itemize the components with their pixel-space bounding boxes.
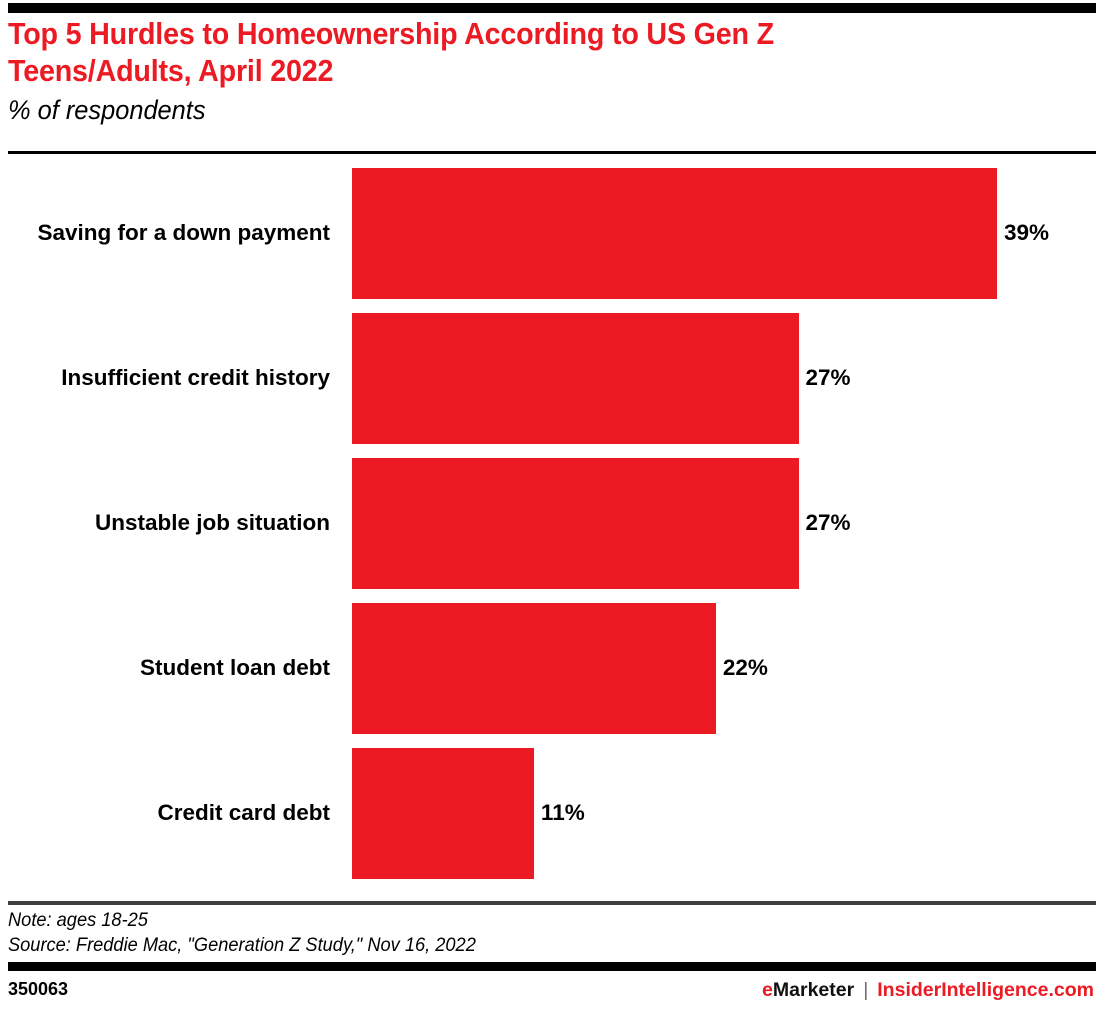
bar-value-label: 11% <box>541 802 585 825</box>
bar-value-label: 39% <box>1004 222 1049 245</box>
footer-divider <box>8 962 1096 971</box>
bar-row: Credit card debt11% <box>8 748 1092 879</box>
bar-track: 27% <box>352 458 1092 589</box>
bar-track: 11% <box>352 748 1092 879</box>
brand-logo[interactable]: eMarketer | InsiderIntelligence.com <box>762 979 1094 1002</box>
source-line: Source: Freddie Mac, "Generation Z Study… <box>8 933 1037 958</box>
chart-page: Top 5 Hurdles to Homeownership According… <box>0 0 1100 1014</box>
bar-track: 22% <box>352 603 1092 734</box>
page-title: Top 5 Hurdles to Homeownership According… <box>8 16 1016 90</box>
brand-separator: | <box>863 979 868 1002</box>
bar-category-label: Student loan debt <box>0 657 330 680</box>
bar-row: Student loan debt22% <box>8 603 1092 734</box>
bar-category-label: Unstable job situation <box>0 512 330 535</box>
chart-header: Top 5 Hurdles to Homeownership According… <box>8 16 1080 126</box>
bar-row: Saving for a down payment39% <box>8 168 1092 299</box>
top-rule <box>8 3 1096 13</box>
brand-website: InsiderIntelligence.com <box>877 979 1094 1002</box>
bar[interactable] <box>352 748 534 879</box>
brand-emarketer-e: e <box>762 979 773 1002</box>
header-divider <box>8 151 1096 154</box>
chart-subtitle: % of respondents <box>8 95 1016 126</box>
bar-row: Unstable job situation27% <box>8 458 1092 589</box>
bar-category-label: Insufficient credit history <box>0 367 330 390</box>
bar-chart-plot: Saving for a down payment39%Insufficient… <box>8 160 1092 890</box>
chart-footer: 350063 eMarketer | InsiderIntelligence.c… <box>8 979 1094 1007</box>
bar-value-label: 22% <box>723 657 768 680</box>
bar-track: 27% <box>352 313 1092 444</box>
bar-value-label: 27% <box>806 512 851 535</box>
bar-category-label: Credit card debt <box>0 802 330 825</box>
note-line: Note: ages 18-25 <box>8 908 1037 933</box>
bar-category-label: Saving for a down payment <box>0 222 330 245</box>
bar-track: 39% <box>352 168 1092 299</box>
chart-id: 350063 <box>8 979 68 1000</box>
bar[interactable] <box>352 168 997 299</box>
bar-row: Insufficient credit history27% <box>8 313 1092 444</box>
chart-notes: Note: ages 18-25 Source: Freddie Mac, "G… <box>8 908 1080 958</box>
bar[interactable] <box>352 603 716 734</box>
bar[interactable] <box>352 458 799 589</box>
bar[interactable] <box>352 313 799 444</box>
note-divider <box>8 901 1096 905</box>
brand-emarketer-name: Marketer <box>773 979 854 1002</box>
bar-value-label: 27% <box>806 367 851 390</box>
